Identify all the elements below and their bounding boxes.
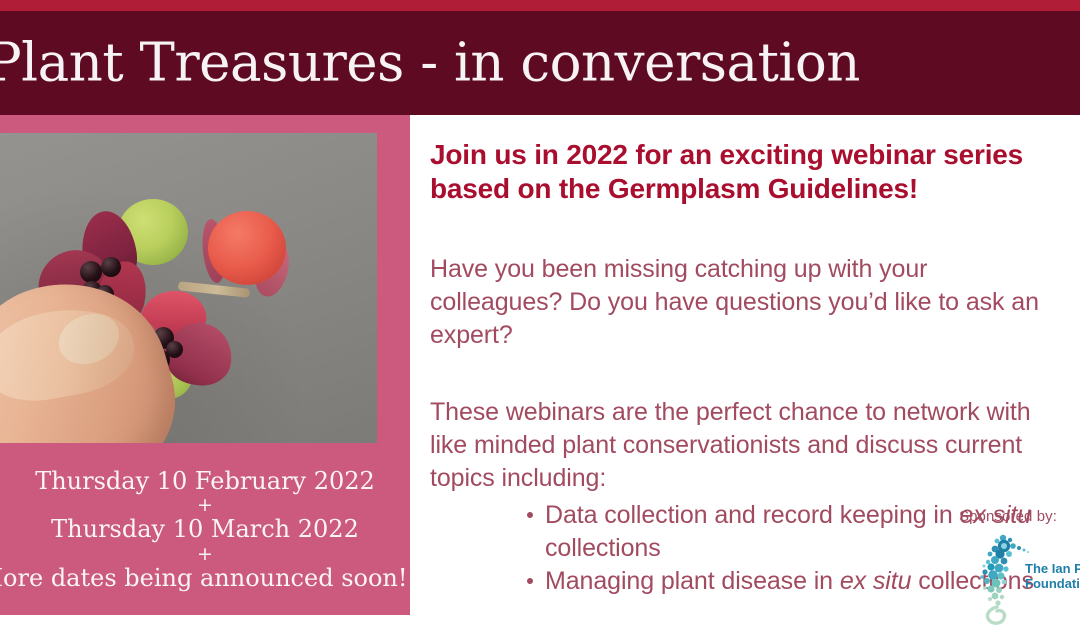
sponsored-by-label: Sponsored by: bbox=[959, 508, 1080, 525]
bullet-text-italic: ex situ bbox=[840, 567, 912, 595]
sponsor-logo: The Ian Po Foundation bbox=[955, 531, 1080, 631]
seed-shape bbox=[166, 341, 183, 358]
date-separator-2: + bbox=[0, 545, 410, 564]
intro-paragraph: Have you been missing catching up with y… bbox=[430, 253, 1060, 352]
webinar-dates: Thursday 10 February 2022 + Thursday 10 … bbox=[0, 467, 410, 593]
bullet-text-before: Data collection and record keeping in bbox=[545, 501, 960, 529]
sponsor-name-line-1: The Ian Po bbox=[1025, 561, 1080, 576]
date-line-2: Thursday 10 March 2022 bbox=[0, 515, 410, 544]
date-separator-1: + bbox=[0, 496, 410, 515]
plant-photo bbox=[0, 133, 377, 443]
header-band: Plant Treasures - in conversation bbox=[0, 11, 1080, 115]
date-line-3: More dates being announced soon! bbox=[0, 564, 410, 593]
red-fruit-shape bbox=[208, 211, 286, 285]
lead-heading: Join us in 2022 for an exciting webinar … bbox=[430, 138, 1060, 207]
left-pink-panel: Thursday 10 February 2022 + Thursday 10 … bbox=[0, 115, 410, 615]
bullet-text-before: Managing plant disease in bbox=[545, 567, 840, 595]
topics-paragraph: These webinars are the perfect chance to… bbox=[430, 396, 1060, 495]
seed-shape bbox=[80, 261, 102, 283]
sponsor-block: Sponsored by: bbox=[955, 508, 1080, 631]
seed-shape bbox=[101, 257, 121, 277]
page-title: Plant Treasures - in conversation bbox=[0, 33, 860, 94]
date-line-1: Thursday 10 February 2022 bbox=[0, 467, 410, 496]
sponsor-name-line-2: Foundation bbox=[1025, 576, 1080, 591]
top-accent-strip bbox=[0, 0, 1080, 11]
sponsor-name: The Ian Po Foundation bbox=[1025, 561, 1080, 592]
bullet-text-after: collections bbox=[545, 534, 661, 562]
